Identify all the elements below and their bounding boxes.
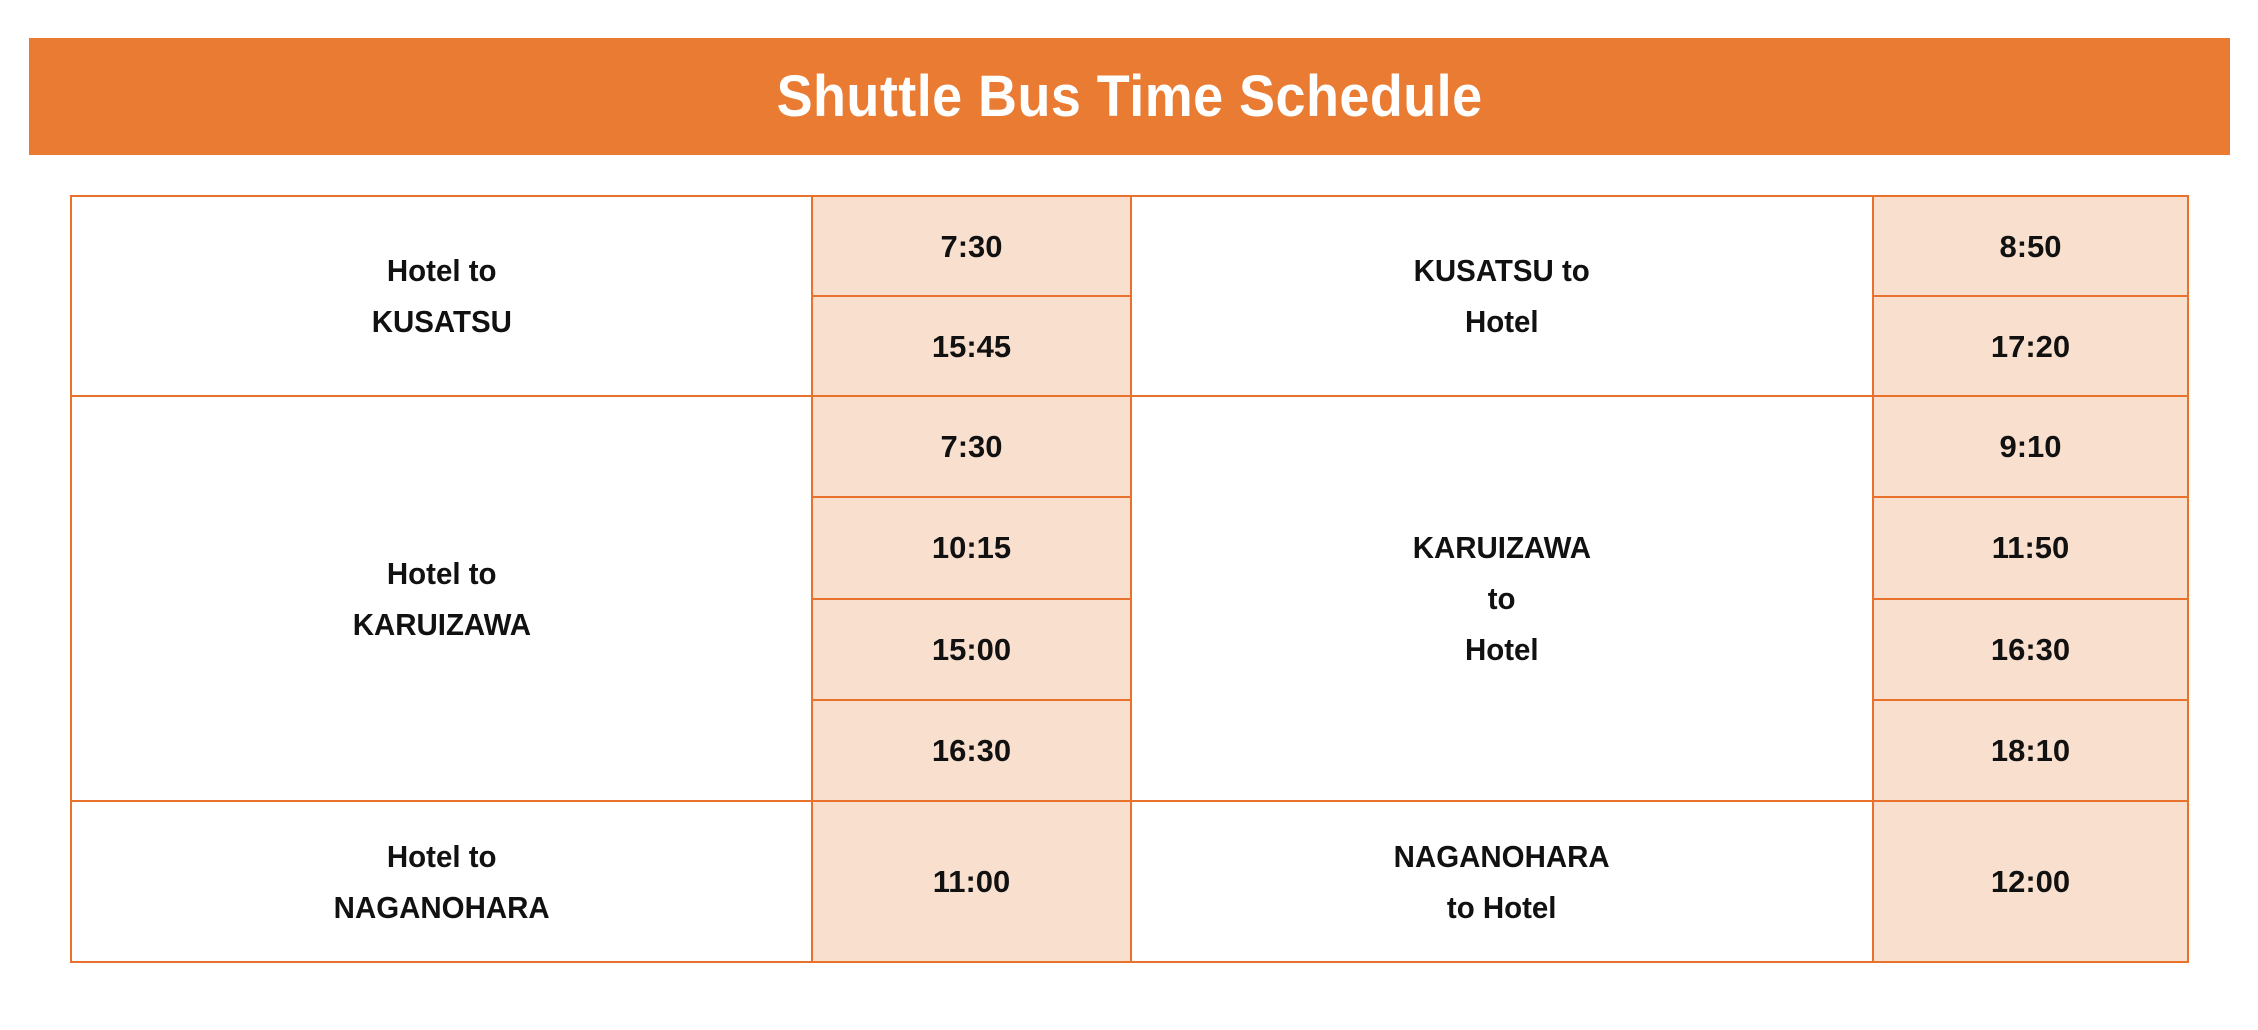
title-banner: Shuttle Bus Time Schedule [29, 38, 2230, 155]
route-line: to [1488, 583, 1516, 614]
route-label-naganohara-to-hotel: NAGANOHARA to Hotel [1132, 802, 1874, 961]
route-label-karuizawa-to-hotel: KARUIZAWA to Hotel [1132, 397, 1874, 800]
time-cell: 11:00 [813, 802, 1130, 961]
route-label-kusatsu-to-hotel: KUSATSU to Hotel [1132, 197, 1874, 395]
shuttle-bus-schedule-page: Shuttle Bus Time Schedule Hotel to KUSAT… [0, 0, 2258, 1030]
time-cell: 10:15 [813, 498, 1130, 599]
route-label-hotel-to-naganohara: Hotel to NAGANOHARA [72, 802, 813, 961]
route-line: Hotel to [387, 255, 497, 286]
route-line: NAGANOHARA [1394, 841, 1610, 872]
time-cell: 8:50 [1874, 197, 2187, 297]
time-cell: 17:20 [1874, 297, 2187, 395]
time-cell: 9:10 [1874, 397, 2187, 498]
route-line: to Hotel [1447, 892, 1557, 923]
schedule-section-naganohara: Hotel to NAGANOHARA 11:00 NAGANOHARA to … [72, 802, 2187, 961]
route-line: NAGANOHARA [334, 892, 550, 923]
route-line: Hotel [1465, 306, 1539, 337]
route-line: KUSATSU [371, 306, 511, 337]
route-line: KARUIZAWA [352, 609, 530, 640]
times-naganohara-to-hotel: 12:00 [1874, 802, 2187, 961]
time-cell: 16:30 [813, 701, 1130, 800]
time-cell: 16:30 [1874, 600, 2187, 701]
times-hotel-to-kusatsu: 7:30 15:45 [813, 197, 1132, 395]
schedule-section-karuizawa: Hotel to KARUIZAWA 7:30 10:15 15:00 16:3… [72, 397, 2187, 802]
schedule-table: Hotel to KUSATSU 7:30 15:45 KUSATSU to H… [70, 195, 2189, 963]
time-cell: 15:00 [813, 600, 1130, 701]
time-cell: 7:30 [813, 397, 1130, 498]
times-hotel-to-karuizawa: 7:30 10:15 15:00 16:30 [813, 397, 1132, 800]
schedule-section-kusatsu: Hotel to KUSATSU 7:30 15:45 KUSATSU to H… [72, 197, 2187, 397]
route-line: KARUIZAWA [1413, 532, 1591, 563]
times-kusatsu-to-hotel: 8:50 17:20 [1874, 197, 2187, 395]
times-karuizawa-to-hotel: 9:10 11:50 16:30 18:10 [1874, 397, 2187, 800]
time-cell: 7:30 [813, 197, 1130, 297]
route-line: Hotel to [387, 558, 497, 589]
time-cell: 18:10 [1874, 701, 2187, 800]
route-line: Hotel [1465, 634, 1539, 665]
route-label-hotel-to-karuizawa: Hotel to KARUIZAWA [72, 397, 813, 800]
route-line: KUSATSU to [1414, 255, 1590, 286]
time-cell: 15:45 [813, 297, 1130, 395]
page-title: Shuttle Bus Time Schedule [776, 68, 1482, 126]
route-line: Hotel to [387, 841, 497, 872]
route-label-hotel-to-kusatsu: Hotel to KUSATSU [72, 197, 813, 395]
time-cell: 12:00 [1874, 802, 2187, 961]
times-hotel-to-naganohara: 11:00 [813, 802, 1132, 961]
time-cell: 11:50 [1874, 498, 2187, 599]
